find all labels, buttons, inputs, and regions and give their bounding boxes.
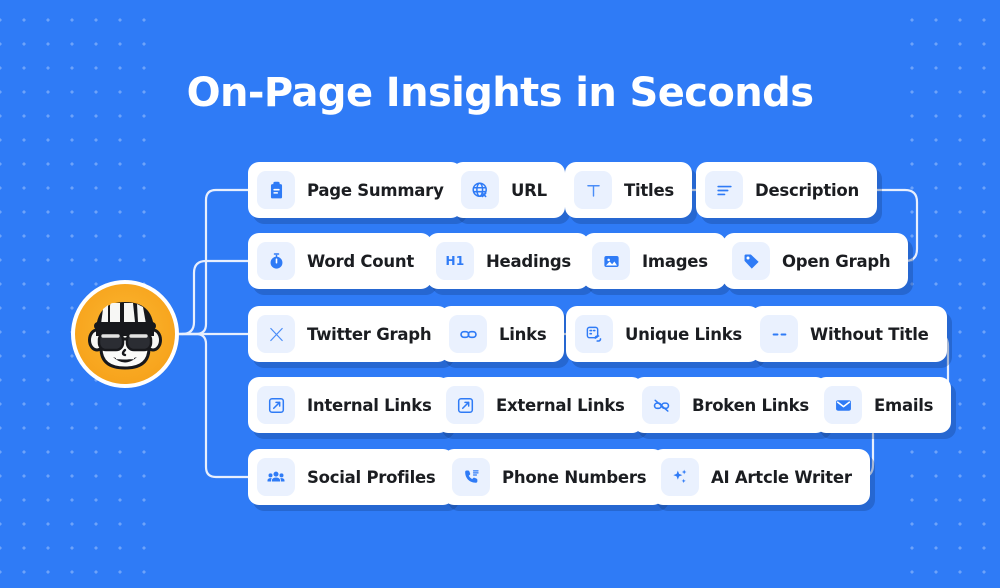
card-label: Links [499, 325, 546, 344]
card-unique-links[interactable]: Unique Links [566, 306, 760, 362]
card-label: AI Artcle Writer [711, 468, 852, 487]
card-label: Open Graph [782, 252, 890, 271]
x-twitter-icon [257, 315, 295, 353]
text-lines-icon [705, 171, 743, 209]
card-label: URL [511, 181, 547, 200]
card-label: Page Summary [307, 181, 444, 200]
card-twitter-graph[interactable]: Twitter Graph [248, 306, 449, 362]
external-link-icon [446, 386, 484, 424]
image-icon [592, 242, 630, 280]
unique-link-icon [575, 315, 613, 353]
card-open-graph[interactable]: Open Graph [723, 233, 908, 289]
phone-icon [452, 458, 490, 496]
card-label: Unique Links [625, 325, 742, 344]
card-label: Titles [624, 181, 674, 200]
card-images[interactable]: Images [583, 233, 726, 289]
card-label: Headings [486, 252, 571, 271]
card-label: Description [755, 181, 859, 200]
card-social-profiles[interactable]: Social Profiles [248, 449, 454, 505]
mascot-face-icon [90, 302, 161, 368]
card-label: Word Count [307, 252, 414, 271]
card-word-count[interactable]: Word Count [248, 233, 432, 289]
h1-text: H1 [446, 254, 465, 268]
card-links[interactable]: Links [440, 306, 564, 362]
dashes-icon [760, 315, 798, 353]
card-label: External Links [496, 396, 625, 415]
card-phone-numbers[interactable]: Phone Numbers [443, 449, 664, 505]
card-url[interactable]: URL [452, 162, 565, 218]
clipboard-icon [257, 171, 295, 209]
card-label: Phone Numbers [502, 468, 646, 487]
card-page-summary[interactable]: Page Summary [248, 162, 462, 218]
card-titles[interactable]: Titles [565, 162, 692, 218]
stopwatch-icon [257, 242, 295, 280]
page-title: On-Page Insights in Seconds [0, 70, 1000, 116]
sparkles-icon [661, 458, 699, 496]
card-label: Twitter Graph [307, 325, 431, 344]
broken-link-icon [642, 386, 680, 424]
card-external-links[interactable]: External Links [437, 377, 643, 433]
card-headings[interactable]: H1 Headings [427, 233, 589, 289]
card-label: Internal Links [307, 396, 432, 415]
title-t-icon [574, 171, 612, 209]
globe-icon [461, 171, 499, 209]
card-label: Social Profiles [307, 468, 436, 487]
link-chain-icon [449, 315, 487, 353]
internal-link-icon [257, 386, 295, 424]
card-without-title[interactable]: Without Title [751, 306, 947, 362]
card-ai-article-writer[interactable]: AI Artcle Writer [652, 449, 870, 505]
card-label: Broken Links [692, 396, 809, 415]
card-label: Emails [874, 396, 933, 415]
card-broken-links[interactable]: Broken Links [633, 377, 827, 433]
card-internal-links[interactable]: Internal Links [248, 377, 450, 433]
card-emails[interactable]: Emails [815, 377, 951, 433]
h1-badge-icon: H1 [436, 242, 474, 280]
envelope-icon [824, 386, 862, 424]
card-label: Without Title [810, 325, 929, 344]
people-icon [257, 458, 295, 496]
card-description[interactable]: Description [696, 162, 877, 218]
card-label: Images [642, 252, 708, 271]
mascot-avatar [71, 280, 179, 388]
tag-icon [732, 242, 770, 280]
infographic-canvas: On-Page Insights in Seconds [0, 0, 1000, 588]
